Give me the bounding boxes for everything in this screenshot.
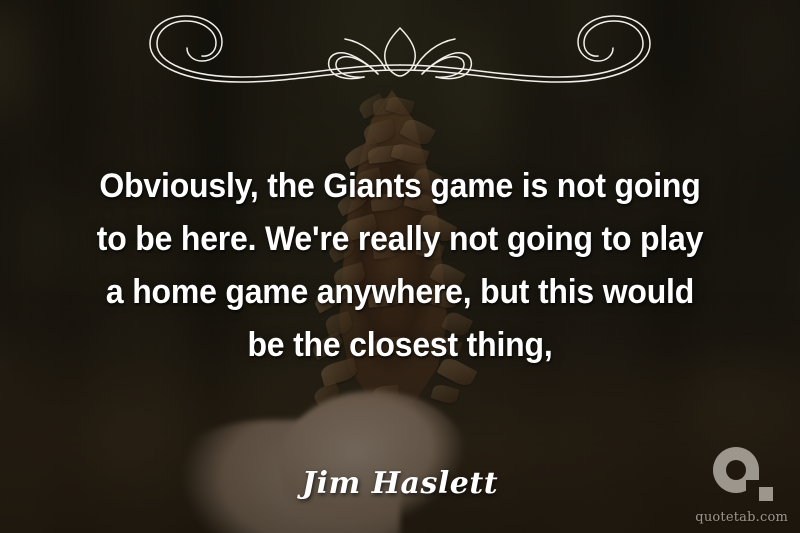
quotetab-q-logo-icon[interactable]	[713, 447, 775, 502]
quote-text: Obviously, the Giants game is not going …	[71, 160, 729, 372]
author-name: Jim Haslett	[0, 466, 800, 501]
quote-line: to be here. We're really not going to pl…	[71, 213, 729, 266]
flourish-divider-ornament-icon	[90, 8, 710, 98]
quote-line: Obviously, the Giants game is not going	[71, 160, 729, 213]
watermark-site-label[interactable]: quotetab.com	[688, 510, 788, 525]
quote-line: a home game anywhere, but this would	[71, 266, 729, 319]
quote-line: be the closest thing,	[71, 319, 729, 372]
watermark[interactable]: quotetab.com	[688, 447, 788, 525]
quote-image-card: Obviously, the Giants game is not going …	[0, 0, 800, 533]
